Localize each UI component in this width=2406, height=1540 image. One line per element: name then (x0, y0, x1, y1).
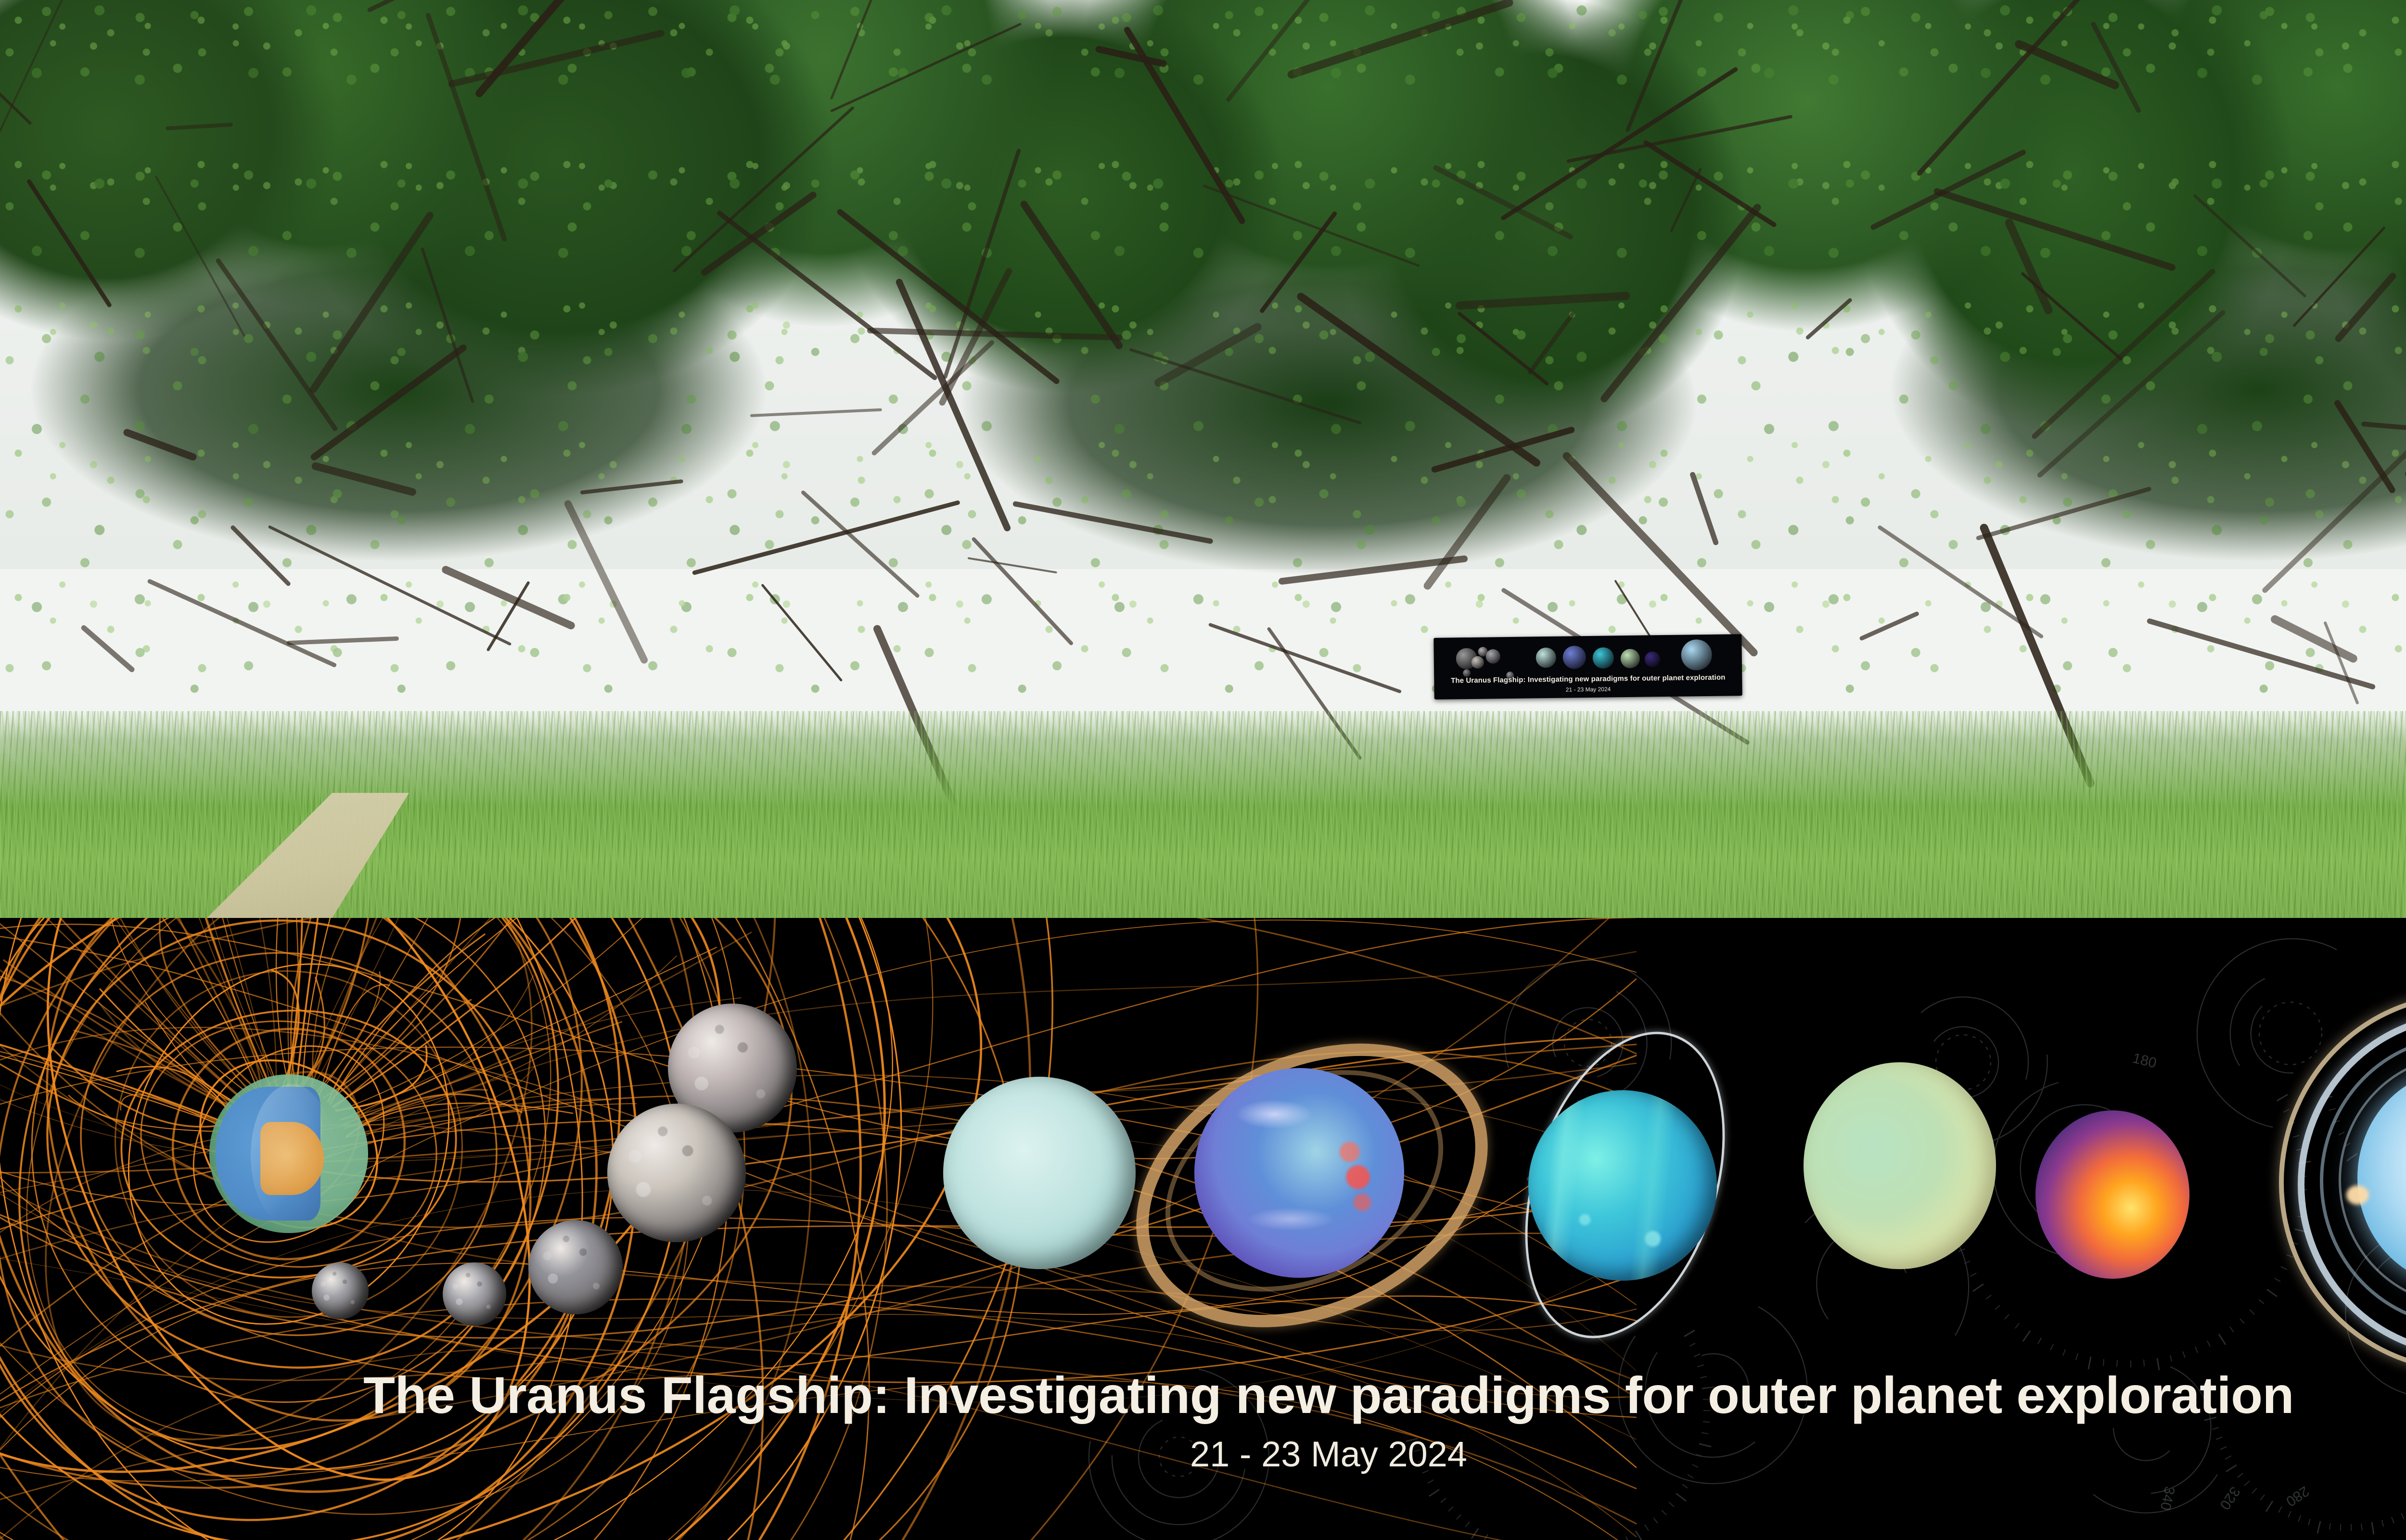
dial-label: 320 (2216, 1484, 2243, 1513)
leaf-texture (0, 0, 2406, 698)
held-banner: The Uranus Flagship: Investigating new p… (1433, 634, 1742, 700)
held-banner-uranus-jwst (1681, 639, 1712, 671)
held-banner-uranus-voyager (1536, 648, 1557, 668)
uranus-interior-cutaway (209, 1074, 368, 1233)
dial-label: 180 (2131, 1050, 2158, 1071)
uranus-pastel (1804, 1062, 1996, 1269)
uranus-jwst (2271, 985, 2406, 1370)
moon-titania (607, 1104, 746, 1242)
dial-label: 280 (2283, 1483, 2312, 1509)
uranus-thermal (2035, 1110, 2189, 1279)
uranus-hst-rings (1501, 1038, 1771, 1327)
moon-umbriel (528, 1220, 623, 1314)
page-title: The Uranus Flagship: Investigating new p… (0, 1369, 2406, 1421)
held-banner-title: The Uranus Flagship: Investigating new p… (1434, 673, 1742, 685)
held-banner-uranus-thermal (1645, 651, 1660, 667)
held-banner-subtitle: 21 - 23 May 2024 (1434, 684, 1742, 695)
dial-label: 340 (2157, 1485, 2178, 1512)
page-subtitle: 21 - 23 May 2024 (0, 1437, 2406, 1472)
held-banner-uranus-pastel (1621, 649, 1640, 668)
uranus-voyager (943, 1077, 1136, 1269)
held-banner-moon-umbriel (1463, 669, 1471, 677)
poster-root: The Uranus Flagship: Investigating new p… (0, 0, 2406, 1540)
group-photo: The Uranus Flagship: Investigating new p… (0, 0, 2406, 918)
held-banner-moon-titania (1472, 656, 1484, 669)
held-banner-moon-ariel (1486, 649, 1500, 663)
uranus-infrared-rings (1145, 1019, 1453, 1327)
moon-ariel (443, 1262, 506, 1326)
held-banner-uranus-hst-rings (1593, 647, 1614, 669)
moon-miranda (312, 1262, 369, 1319)
held-banner-uranus-infrared-rings (1562, 646, 1586, 669)
